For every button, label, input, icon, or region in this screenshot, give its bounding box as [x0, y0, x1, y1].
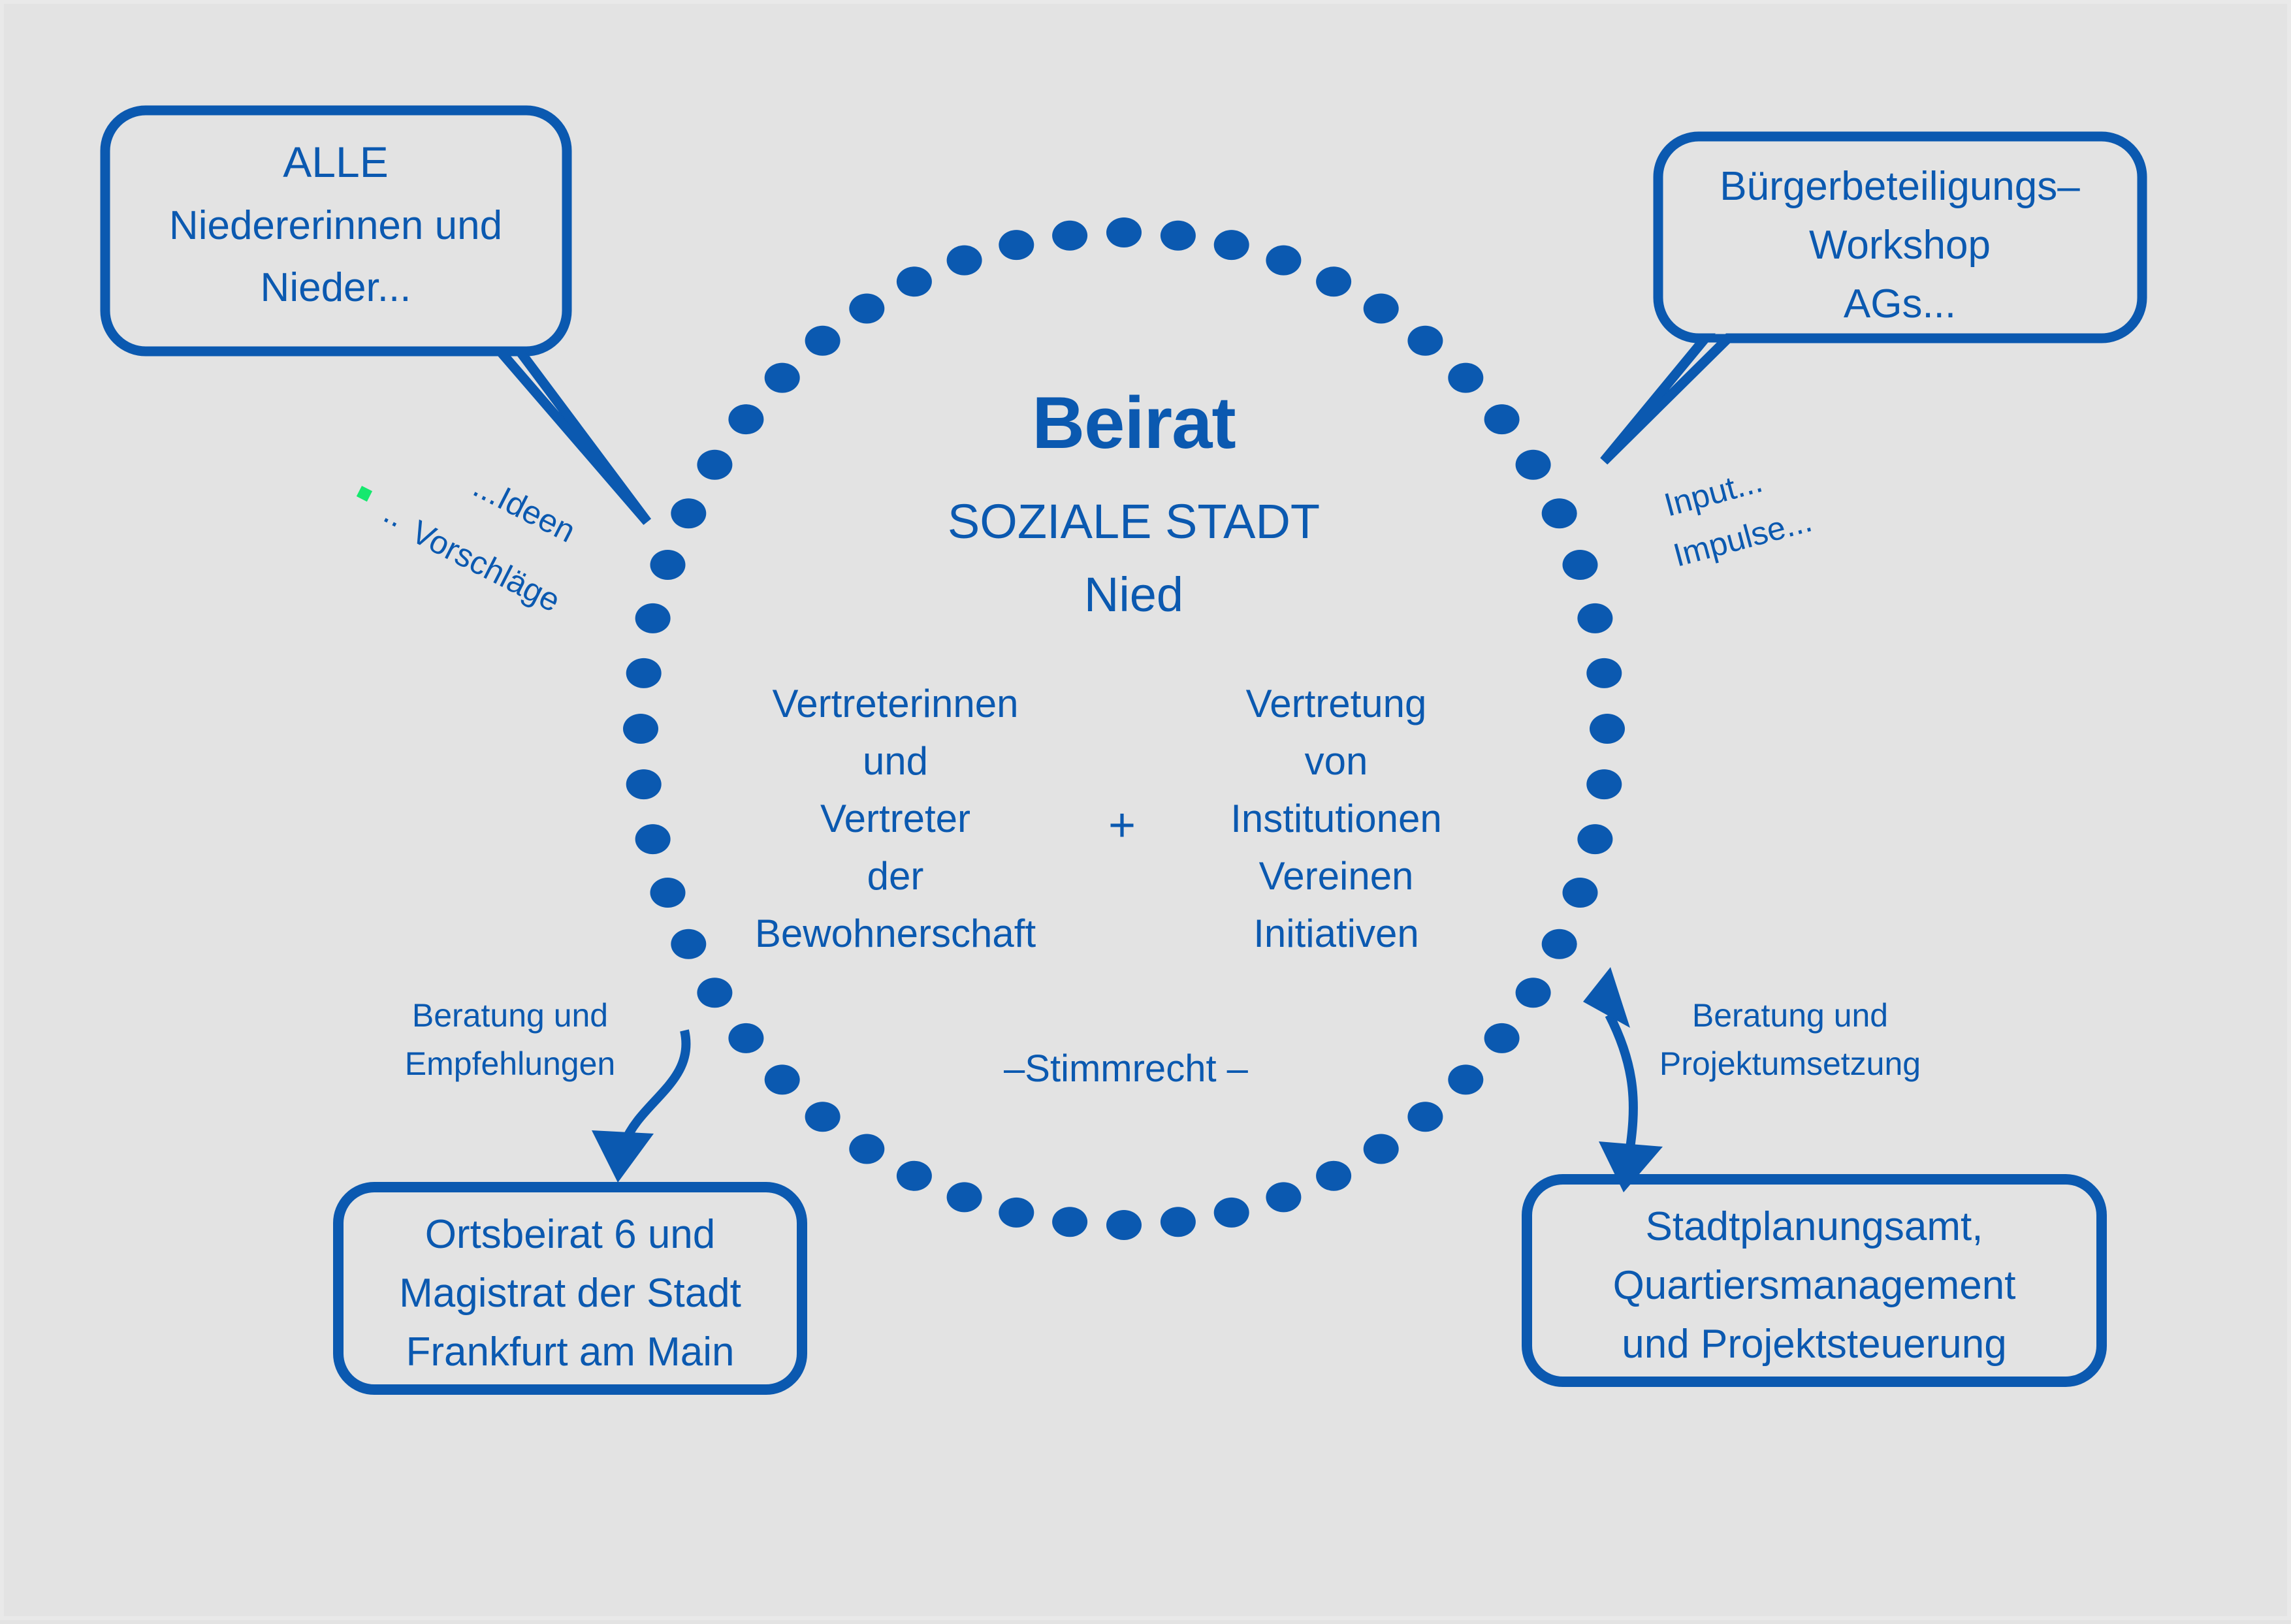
ring-dot — [1590, 714, 1625, 744]
ring-dot — [1448, 363, 1483, 393]
ring-dot — [1516, 978, 1551, 1008]
bubble-right-line-2: Workshop — [1809, 223, 1991, 268]
ring-dot — [650, 878, 686, 908]
center-right-col-3: Vereinen — [1259, 854, 1414, 898]
ring-dot — [1542, 929, 1577, 959]
ring-dot — [1214, 230, 1249, 260]
ring-dot — [805, 326, 841, 356]
ring-dot — [635, 824, 671, 854]
edge-label-ideen: ...Ideen — [468, 468, 581, 550]
box-bottom-left-line-1: Magistrat der Stadt — [399, 1271, 741, 1316]
center-footer-stimmrecht: –Stimmrecht – — [1004, 1047, 1249, 1090]
ring-dot — [805, 1102, 841, 1132]
bubble-left-line-3: Nieder... — [261, 265, 411, 310]
label-beratung-empfehlungen-line-1: Beratung und — [412, 997, 608, 1034]
ring-dot — [1106, 217, 1142, 247]
center-left-col-4: Bewohnerschaft — [755, 912, 1036, 955]
ring-dot — [697, 978, 732, 1008]
arrow-curve-left — [624, 1030, 686, 1143]
green-dot-marker — [357, 486, 372, 502]
arrow-beratung-projektumsetzung: Beratung und Projektumsetzung — [1583, 967, 1921, 1192]
ring-dot — [626, 658, 662, 688]
ring-dot — [650, 550, 686, 580]
center-right-col-4: Initiativen — [1253, 912, 1418, 955]
ring-dot — [728, 404, 763, 434]
diagram-svg: ALLE Niedererinnen und Nieder... Bürgerb… — [4, 4, 2291, 1624]
ring-dot — [1586, 769, 1622, 799]
box-bottom-right[interactable]: Stadtplanungsamt, Quartiersmanagement un… — [1527, 1179, 2102, 1382]
ring-dot — [1052, 1207, 1087, 1237]
ring-dot — [1161, 221, 1196, 251]
arrowhead-right-down — [1599, 1141, 1663, 1192]
ring-dot — [1586, 658, 1622, 688]
label-beratung-empfehlungen-line-2: Empfehlungen — [405, 1045, 615, 1082]
bubble-left-line-1: ALLE — [283, 138, 388, 186]
ring-dot — [626, 769, 662, 799]
bubble-right-line-1: Bürgerbeteiligungs– — [1720, 164, 2080, 209]
bubble-right-line-3: AGs... — [1844, 281, 1956, 326]
ring-dot — [1542, 498, 1577, 528]
bubble-left-line-2: Niedererinnen und — [169, 203, 502, 248]
ring-dot — [1266, 246, 1301, 276]
ring-dot — [635, 603, 671, 633]
ring-dot — [1407, 1102, 1443, 1132]
center-left-col-1: und — [863, 739, 928, 783]
ring-dot — [1052, 221, 1087, 251]
ring-dot — [1364, 294, 1399, 324]
ring-dot — [765, 363, 800, 393]
box-bottom-right-line-0: Stadtplanungsamt, — [1645, 1204, 1983, 1249]
edge-label-input-group: Input... Impulse... — [1660, 462, 1816, 574]
speech-bubble-top-left[interactable]: ALLE Niedererinnen und Nieder... — [105, 110, 647, 522]
box-bottom-left-line-2: Frankfurt am Main — [406, 1329, 734, 1375]
ring-dot — [1563, 550, 1598, 580]
ring-dot — [1161, 1207, 1196, 1237]
center-right-col-2: Institutionen — [1230, 797, 1442, 840]
center-subtitle-line-1: SOZIALE STADT — [948, 494, 1320, 549]
speech-bubble-top-right[interactable]: Bürgerbeteiligungs– Workshop AGs... — [1604, 136, 2142, 461]
center-right-col-1: von — [1305, 739, 1368, 783]
ring-dot — [1484, 404, 1520, 434]
ring-dot — [728, 1023, 763, 1053]
ring-dot — [1577, 824, 1612, 854]
ring-dot — [765, 1064, 800, 1094]
ring-dot — [1484, 1023, 1520, 1053]
ring-dot — [1563, 878, 1598, 908]
ring-dot — [671, 929, 706, 959]
ring-dot — [1316, 266, 1351, 296]
ring-dot — [1106, 1210, 1142, 1240]
ring-dot — [1214, 1198, 1249, 1228]
center-subtitle-line-2: Nied — [1084, 567, 1183, 622]
ring-dot — [897, 1161, 932, 1191]
ring-dot — [1448, 1064, 1483, 1094]
ring-dot — [1364, 1134, 1399, 1164]
arrow-curve-right — [1609, 1015, 1633, 1156]
arrow-beratung-empfehlungen: Beratung und Empfehlungen — [405, 997, 686, 1183]
ring-dot — [1407, 326, 1443, 356]
box-bottom-left[interactable]: Ortsbeirat 6 und Magistrat der Stadt Fra… — [338, 1187, 802, 1390]
arrowhead-left — [592, 1130, 654, 1183]
center-title: Beirat — [1032, 382, 1235, 464]
center-left-col-0: Vertreterinnen — [773, 682, 1019, 725]
ring-dot — [897, 266, 932, 296]
ring-dot — [849, 294, 884, 324]
center-operator-plus: + — [1108, 799, 1136, 852]
ring-dot — [697, 450, 732, 480]
ring-dot — [947, 246, 982, 276]
ring-dot — [671, 498, 706, 528]
ring-dot — [1516, 450, 1551, 480]
ring-dot — [1577, 603, 1612, 633]
ring-dot — [999, 1198, 1034, 1228]
box-bottom-right-line-1: Quartiersmanagement — [1613, 1263, 2016, 1308]
ring-dot — [1266, 1182, 1301, 1212]
center-left-col-2: Vertreter — [820, 797, 970, 840]
bubble-tail-right — [1604, 338, 1728, 461]
label-beratung-projektumsetzung-line-2: Projektumsetzung — [1659, 1045, 1921, 1082]
ring-dot — [947, 1182, 982, 1212]
box-bottom-right-line-2: und Projektsteuerung — [1622, 1322, 2006, 1367]
ring-dot — [999, 230, 1034, 260]
ring-dot — [849, 1134, 884, 1164]
center-left-col-3: der — [867, 854, 924, 898]
edge-label-input: Input... — [1660, 462, 1766, 524]
diagram-canvas: ALLE Niedererinnen und Nieder... Bürgerb… — [0, 0, 2291, 1620]
ring-dot — [1316, 1161, 1351, 1191]
label-beratung-projektumsetzung-line-1: Beratung und — [1692, 997, 1888, 1034]
center-content: Beirat SOZIALE STADT Nied Vertreterinnen… — [755, 382, 1442, 1090]
center-right-col-0: Vertretung — [1246, 682, 1427, 725]
box-bottom-left-line-0: Ortsbeirat 6 und — [425, 1212, 716, 1257]
ring-dot — [623, 714, 658, 744]
edge-label-ideen-group: ...Ideen — [468, 468, 581, 550]
edge-label-vorschlaege-dots: .. — [378, 494, 411, 535]
